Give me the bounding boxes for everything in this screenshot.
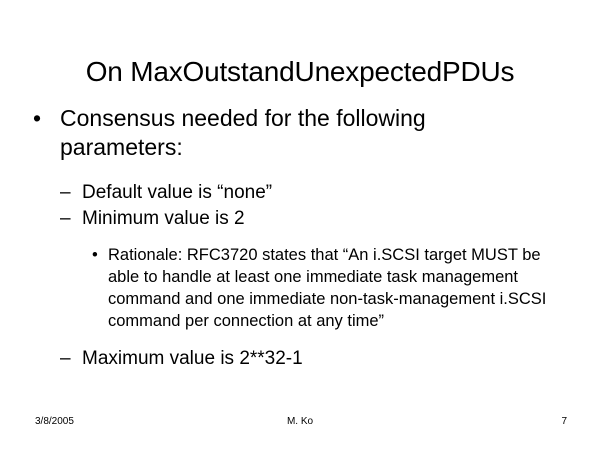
bullet-dash-icon: –: [60, 206, 71, 232]
bullet-dot-icon: •: [92, 244, 98, 266]
bullet-level2-minimum-text: Minimum value is 2: [82, 208, 245, 229]
bullet-level1-text: Consensus needed for the following param…: [60, 105, 426, 160]
bullet-level2-minimum-value: – Minimum value is 2: [0, 206, 552, 232]
bullet-level3-rationale: • Rationale: RFC3720 states that “An i.S…: [0, 244, 600, 332]
bullet-dot-icon: •: [33, 104, 41, 133]
bullet-level2-maximum-value: – Maximum value is 2**32-1: [0, 346, 552, 372]
bullet-level2-maximum-text: Maximum value is 2**32-1: [82, 348, 303, 369]
slide-body: • Consensus needed for the following par…: [0, 104, 600, 372]
bullet-dash-icon: –: [60, 180, 71, 206]
page-title: On MaxOutstandUnexpectedPDUs: [0, 55, 600, 89]
slide-footer: 3/8/2005 M. Ko 7: [0, 412, 600, 432]
bullet-level1-consensus: • Consensus needed for the following par…: [0, 104, 530, 162]
bullet-dash-icon: –: [60, 346, 71, 372]
footer-author: M. Ko: [0, 412, 600, 432]
bullet-level3-rationale-text: Rationale: RFC3720 states that “An i.SCS…: [108, 246, 546, 330]
bullet-level2-default-value: – Default value is “none”: [0, 180, 552, 206]
footer-page-number: 7: [561, 412, 567, 432]
bullet-level2-default-text: Default value is “none”: [82, 182, 272, 203]
slide: On MaxOutstandUnexpectedPDUs • Consensus…: [0, 0, 600, 450]
